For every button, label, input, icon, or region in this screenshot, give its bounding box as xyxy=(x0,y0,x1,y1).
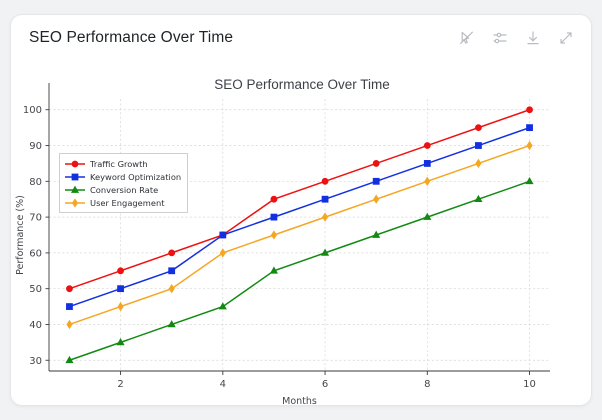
legend-item-user-engagement[interactable]: User Engagement xyxy=(64,196,181,209)
header-actions xyxy=(456,27,577,49)
svg-text:30: 30 xyxy=(29,356,42,367)
legend-label: Conversion Rate xyxy=(90,185,158,195)
svg-text:8: 8 xyxy=(424,379,430,390)
legend-item-traffic-growth[interactable]: Traffic Growth xyxy=(64,157,181,170)
svg-text:Performance (%): Performance (%) xyxy=(15,195,26,275)
svg-text:Months: Months xyxy=(282,396,317,406)
svg-text:10: 10 xyxy=(523,379,536,390)
legend-label: Traffic Growth xyxy=(90,159,148,169)
sliders-icon[interactable] xyxy=(489,27,511,49)
svg-text:60: 60 xyxy=(29,248,42,259)
svg-text:70: 70 xyxy=(29,213,42,224)
chart-area: SEO Performance Over Time 30405060708090… xyxy=(11,61,592,406)
card-header: SEO Performance Over Time xyxy=(11,15,591,61)
chart-card: SEO Performance Over Time xyxy=(10,14,592,406)
legend-item-keyword-optimization[interactable]: Keyword Optimization xyxy=(64,170,181,183)
legend-swatch-triangle xyxy=(64,184,86,196)
legend-item-conversion-rate[interactable]: Conversion Rate xyxy=(64,183,181,196)
legend-swatch-circle xyxy=(64,158,86,170)
download-icon[interactable] xyxy=(522,27,544,49)
svg-text:4: 4 xyxy=(220,379,226,390)
legend-swatch-diamond xyxy=(64,197,86,209)
expand-icon[interactable] xyxy=(555,27,577,49)
page-title: SEO Performance Over Time xyxy=(29,29,233,47)
chart-legend: Traffic GrowthKeyword OptimizationConver… xyxy=(59,153,188,213)
svg-text:40: 40 xyxy=(29,320,42,331)
svg-text:2: 2 xyxy=(117,379,123,390)
svg-text:50: 50 xyxy=(29,284,42,295)
legend-label: User Engagement xyxy=(90,198,164,208)
svg-text:80: 80 xyxy=(29,177,42,188)
svg-text:90: 90 xyxy=(29,141,42,152)
cursor-slash-icon[interactable] xyxy=(456,27,478,49)
svg-text:6: 6 xyxy=(322,379,328,390)
legend-swatch-square xyxy=(64,171,86,183)
legend-label: Keyword Optimization xyxy=(90,172,181,182)
line-chart-plot: 30405060708090100246810MonthsPerformance… xyxy=(11,61,592,406)
svg-text:100: 100 xyxy=(23,105,42,116)
